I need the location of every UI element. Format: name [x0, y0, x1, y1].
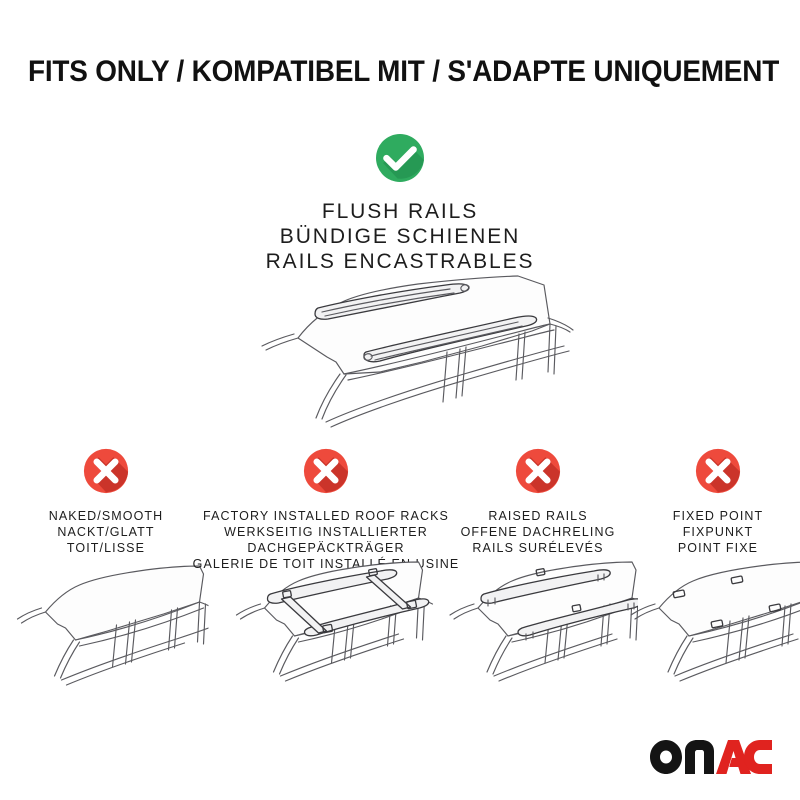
incompatible-labels-naked: NAKED/SMOOTH NACKT/GLATT TOIT/LISSE	[49, 508, 164, 556]
cross-circle-icon	[515, 448, 561, 499]
label-en: FACTORY INSTALLED ROOF RACKS	[193, 508, 460, 524]
car-roof-fixed-point-illustration	[623, 548, 800, 693]
car-roof-raised-rails-illustration	[438, 548, 638, 693]
label-en: FIXED POINT	[673, 508, 764, 524]
compatible-section: FLUSH RAILS BÜNDIGE SCHIENEN RAILS ENCAS…	[0, 133, 800, 274]
compatible-label-de: BÜNDIGE SCHIENEN	[266, 224, 535, 249]
omac-logo	[650, 740, 772, 774]
label-de-1: WERKSEITIG INSTALLIERTER	[193, 524, 460, 540]
label-de: NACKT/GLATT	[49, 524, 164, 540]
cross-circle-icon	[303, 448, 349, 499]
label-de: OFFENE DACHRELING	[461, 524, 616, 540]
incompatible-section: NAKED/SMOOTH NACKT/GLATT TOIT/LISSE	[0, 448, 800, 698]
label-en: NAKED/SMOOTH	[49, 508, 164, 524]
car-roof-flush-rails-illustration	[232, 262, 612, 442]
car-roof-naked-illustration	[4, 556, 209, 696]
incompatible-item-raised-rails: RAISED RAILS OFFENE DACHRELING RAILS SUR…	[440, 448, 636, 698]
incompatible-item-fixed-point: FIXED POINT FIXPUNKT POINT FIXE	[636, 448, 800, 698]
car-roof-factory-rack-illustration	[219, 548, 434, 693]
cross-circle-icon	[695, 448, 741, 499]
incompatible-item-naked: NAKED/SMOOTH NACKT/GLATT TOIT/LISSE	[0, 448, 212, 698]
cross-circle-icon	[83, 448, 129, 499]
label-en: RAISED RAILS	[461, 508, 616, 524]
check-circle-icon	[375, 133, 425, 188]
label-de: FIXPUNKT	[673, 524, 764, 540]
label-fr: TOIT/LISSE	[49, 540, 164, 556]
page-title: FITS ONLY / KOMPATIBEL MIT / S'ADAPTE UN…	[28, 55, 772, 89]
incompatible-item-factory-rack: FACTORY INSTALLED ROOF RACKS WERKSEITIG …	[212, 448, 440, 698]
compatible-label-en: FLUSH RAILS	[266, 199, 535, 224]
